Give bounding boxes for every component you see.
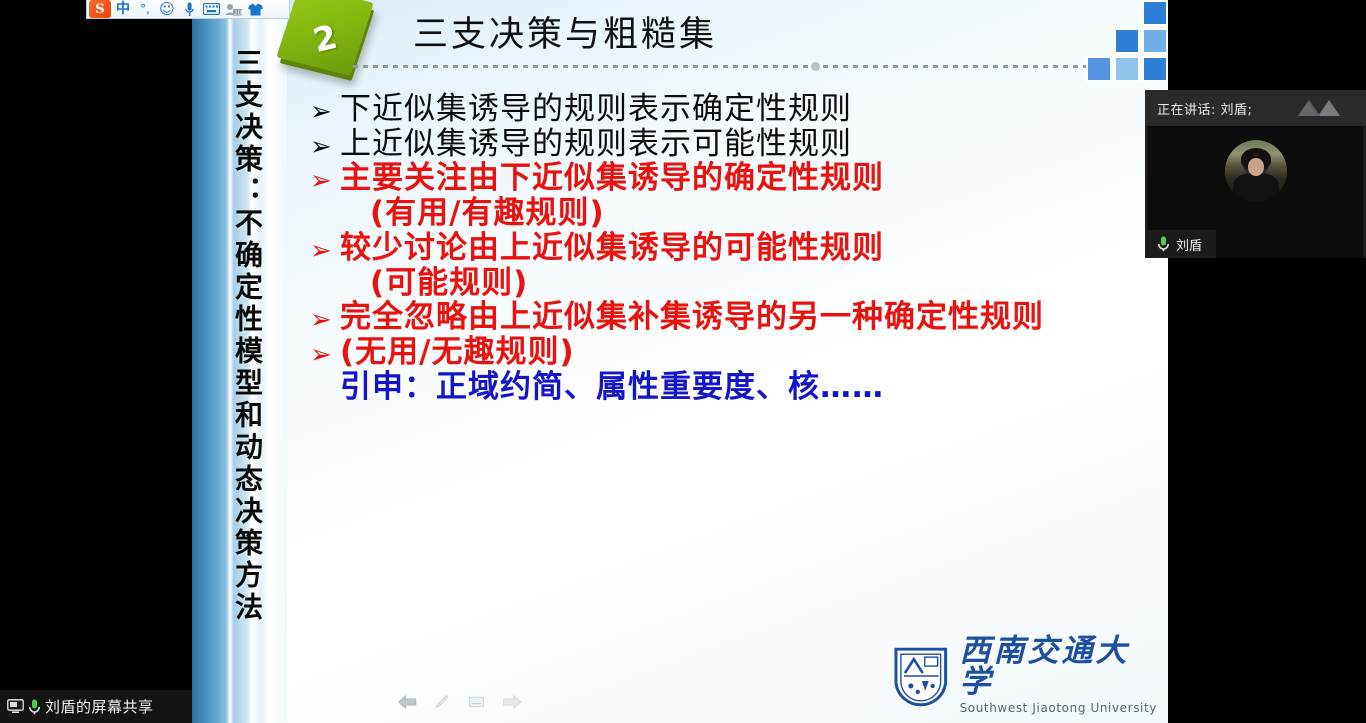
deco-square	[1114, 28, 1140, 54]
slide-bullet-text: (有用/有趣规则)	[370, 196, 605, 231]
bullet-arrow-icon: ➢	[310, 231, 340, 264]
bullet-arrow-icon: ➢	[310, 335, 340, 368]
bullet-arrow-icon	[310, 370, 340, 377]
bullet-arrow-icon: ➢	[310, 300, 340, 333]
slide-bullet-line: ➢主要关注由下近似集诱导的确定性规则	[310, 161, 1148, 196]
punctuation-mode-icon[interactable]: °,	[135, 1, 155, 18]
slide-bullet-text: 较少讨论由上近似集诱导的可能性规则	[340, 231, 884, 266]
chinese-mode-icon[interactable]: 中	[113, 1, 133, 18]
participant-name-badge: 刘盾	[1148, 230, 1216, 258]
screen: 三支决策：不确定性模型和动态决策方法 2 三支决策与粗糙集 ➢下近似集诱导的规则…	[0, 0, 1366, 723]
sogou-logo-icon[interactable]: S	[89, 0, 111, 18]
deco-square	[1114, 56, 1140, 82]
slide-bullet-text: 引申：正域约简、属性重要度、核……	[340, 370, 884, 405]
active-speaker-label: 正在讲话: 刘盾;	[1157, 99, 1252, 118]
slide-bullet-text: 完全忽略由上近似集补集诱导的另一种确定性规则	[340, 300, 1044, 335]
slide-bullet-text: (无用/无趣规则)	[340, 335, 575, 370]
video-panel[interactable]: 正在讲话: 刘盾; 刘盾	[1145, 90, 1366, 258]
slide-vertical-sidebar: 三支决策：不确定性模型和动态决策方法	[192, 0, 287, 723]
soft-keyboard-icon[interactable]	[201, 1, 221, 18]
svg-text:2D: 2D	[234, 10, 242, 15]
emoji-icon[interactable]: ☺	[157, 1, 177, 18]
university-name-cn: 西南交通大学	[960, 636, 1162, 698]
decorative-squares	[1068, 0, 1168, 72]
slide-bullet-line: (有用/有趣规则)	[340, 196, 1148, 231]
microphone-icon	[1158, 236, 1169, 252]
slide-number-label: 2	[279, 0, 371, 84]
slide-bullet-line: ➢较少讨论由上近似集诱导的可能性规则	[310, 231, 1148, 266]
participant-name: 刘盾	[1176, 235, 1202, 254]
slide-menu-icon[interactable]	[467, 692, 486, 712]
university-logo: 西南交通大学 Southwest Jiaotong University	[892, 640, 1162, 710]
screen-share-status-bar[interactable]: 刘盾的屏幕共享	[0, 690, 192, 723]
presentation-controls[interactable]	[397, 688, 522, 716]
grid-icon[interactable]	[267, 1, 287, 18]
video-panel-header: 正在讲话: 刘盾;	[1145, 90, 1366, 126]
video-panel-body[interactable]: 刘盾	[1148, 126, 1363, 258]
title-rule-dot	[811, 62, 820, 71]
crest-icon	[892, 643, 950, 707]
bullet-arrow-icon	[340, 196, 370, 203]
slide-bullet-text: 上近似集诱导的规则表示可能性规则	[340, 127, 852, 162]
deco-square	[1142, 56, 1168, 82]
slide-bullet-line: ➢完全忽略由上近似集补集诱导的另一种确定性规则	[310, 300, 1148, 335]
slide-body-list: ➢下近似集诱导的规则表示确定性规则➢上近似集诱导的规则表示可能性规则➢主要关注由…	[310, 92, 1148, 404]
bullet-arrow-icon: ➢	[310, 161, 340, 194]
slide-title: 三支决策与粗糙集	[413, 6, 717, 57]
slide-bullet-text: 下近似集诱导的规则表示确定性规则	[340, 92, 852, 127]
slide-bullet-line: ➢下近似集诱导的规则表示确定性规则	[310, 92, 1148, 127]
bullet-arrow-icon: ➢	[310, 92, 340, 125]
user-2d-icon[interactable]: 2D	[223, 1, 243, 18]
deco-square	[1086, 56, 1112, 82]
slide-bullet-line: ➢上近似集诱导的规则表示可能性规则	[310, 127, 1148, 162]
deco-square	[1142, 28, 1168, 54]
sogou-ime-toolbar[interactable]: S 中 °, ☺ 2D	[86, 0, 290, 19]
slide-bullet-line: 引申：正域约简、属性重要度、核……	[310, 370, 1148, 405]
slide-bullet-line: (可能规则)	[340, 266, 1148, 301]
slide-bullet-line: ➢(无用/无趣规则)	[310, 335, 1148, 370]
skin-icon[interactable]	[245, 1, 265, 18]
next-slide-arrow-icon[interactable]	[502, 692, 522, 712]
powerpoint-slide: 三支决策：不确定性模型和动态决策方法 2 三支决策与粗糙集 ➢下近似集诱导的规则…	[192, 0, 1168, 723]
zoom-logo-icon	[1296, 96, 1348, 118]
monitor-icon	[7, 699, 24, 714]
sidebar-vertical-title: 三支决策：不确定性模型和动态决策方法	[204, 48, 262, 648]
slide-bullet-text: (可能规则)	[370, 266, 528, 301]
pen-tool-icon[interactable]	[433, 691, 450, 713]
screen-share-label: 刘盾的屏幕共享	[45, 696, 154, 717]
voice-input-icon[interactable]	[179, 1, 199, 18]
avatar	[1225, 140, 1287, 202]
title-dotted-rule	[353, 65, 1108, 68]
slide-header: 2 三支决策与粗糙集	[287, 0, 1168, 75]
previous-slide-arrow-icon[interactable]	[397, 692, 417, 712]
slide-bullet-text: 主要关注由下近似集诱导的确定性规则	[340, 161, 884, 196]
bullet-arrow-icon: ➢	[310, 127, 340, 160]
bullet-arrow-icon	[340, 266, 370, 273]
microphone-icon	[29, 699, 40, 715]
deco-square	[1142, 0, 1168, 26]
university-name-en: Southwest Jiaotong University	[960, 701, 1162, 715]
